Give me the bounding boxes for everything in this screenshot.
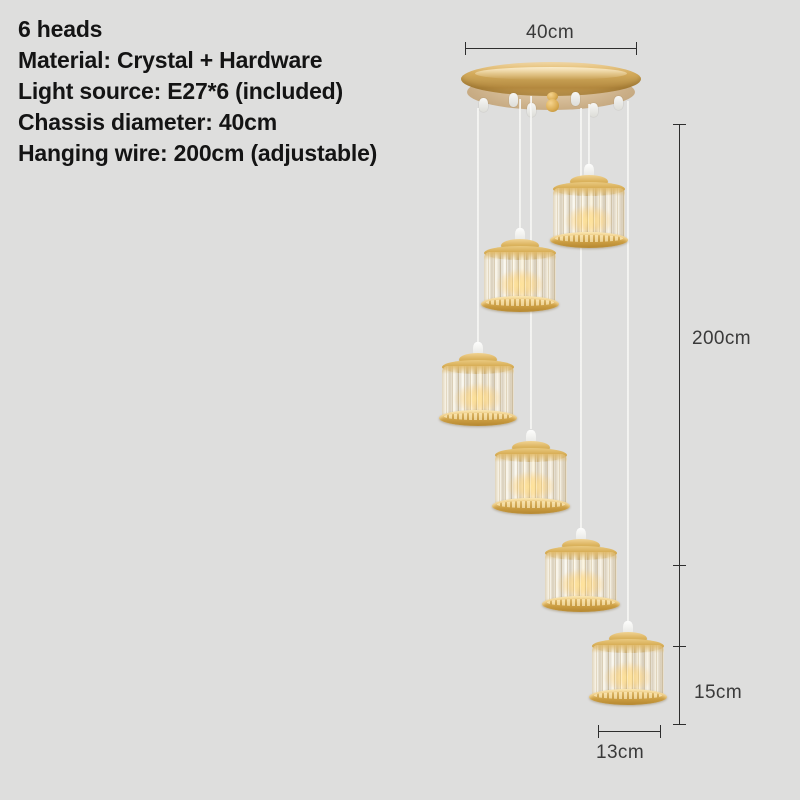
shade-top-band [592,645,664,653]
dimension-tick-chassis-left [465,42,466,55]
shade-top-band [545,552,617,560]
spec-line-hanging-wire: Hanging wire: 200cm (adjustable) [18,138,377,169]
spec-line-heads: 6 heads [18,14,377,45]
hanging-wire-3 [477,108,479,349]
dimension-label-shade-width: 13cm [596,742,644,764]
shade-top-band [553,188,625,196]
spec-line-material: Material: Crystal + Hardware [18,45,377,76]
shade-bottom-ring [589,689,667,705]
dimension-tick-width-right [660,725,661,738]
pendant-lamp-6 [589,621,667,707]
dimension-tick-shade-bottom [673,724,686,725]
hanging-wire-1 [588,104,590,172]
pendant-lamp-3 [439,342,517,428]
pendant-lamp-1 [550,164,628,250]
ceiling-canopy-plate [461,62,641,114]
shade-bottom-ring [550,232,628,248]
wire-nipple-5 [589,103,598,117]
shade-top-band [484,252,556,260]
shade-bottom-ring [492,498,570,514]
dimension-label-drop-height: 200cm [692,328,751,350]
hanging-wire-2 [519,99,521,235]
dimension-line-shade-width [598,731,661,732]
spec-line-light-source: Light source: E27*6 (included) [18,76,377,107]
spec-line-chassis: Chassis diameter: 40cm [18,107,377,138]
product-spec-image: { "background_color": "#dededd", "spec":… [0,0,800,800]
wire-nipple-2 [509,93,518,107]
wire-nipple-6 [614,96,623,110]
dimension-label-chassis-width: 40cm [526,22,574,44]
shade-bottom-ring [542,596,620,612]
dimension-tick-shade-top [673,646,686,647]
shade-bottom-ring [439,410,517,426]
canopy-center-knob [546,92,559,112]
wire-nipple-1 [479,98,488,112]
shade-top-band [442,366,514,374]
dimension-tick-chassis-right [636,42,637,55]
specification-text-block: 6 heads Material: Crystal + Hardware Lig… [18,14,377,169]
wire-nipple-4 [571,92,580,106]
pendant-lamp-2 [481,228,559,314]
shade-bottom-ring [481,296,559,312]
dimension-line-chassis-width [465,48,637,49]
dimension-tick-drop-top [673,124,686,125]
pendant-lamp-5 [542,528,620,614]
dimension-tick-width-left [598,725,599,738]
shade-top-band [495,454,567,462]
pendant-lamp-4 [492,430,570,516]
dimension-line-shade-height [679,565,680,725]
canopy-rim [461,62,641,96]
dimension-line-drop-height [679,124,680,565]
dimension-label-shade-height: 15cm [694,682,742,704]
